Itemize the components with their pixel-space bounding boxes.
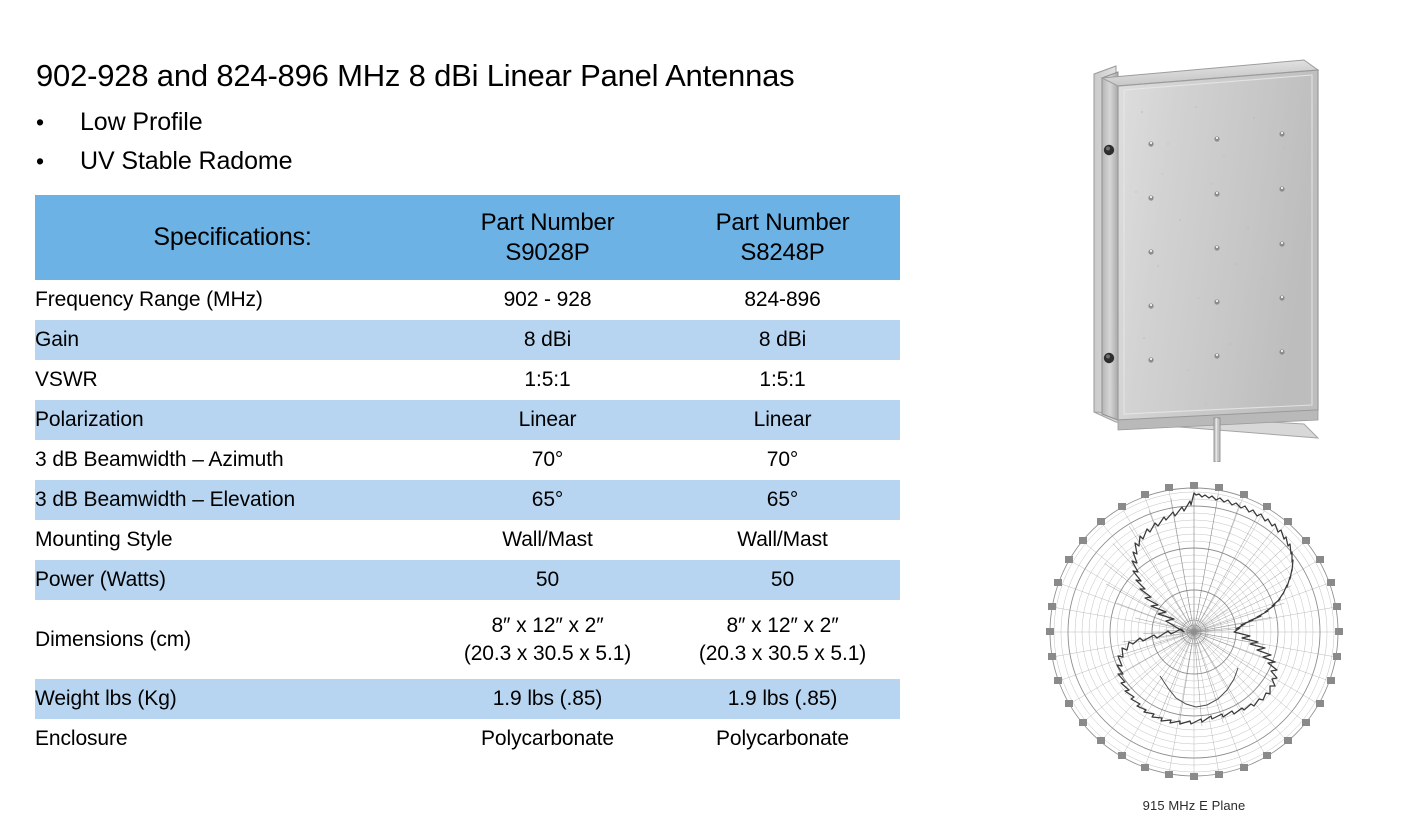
row-value-a: 902 - 928 — [430, 280, 665, 320]
column-header-specifications: Specifications: — [35, 195, 430, 280]
dimensions-centimeters: (20.3 x 30.5 x 5.1) — [665, 640, 900, 668]
row-value-a: Polycarbonate — [430, 719, 665, 759]
row-value-a: 65° — [430, 480, 665, 520]
dimensions-centimeters: (20.3 x 30.5 x 5.1) — [430, 640, 665, 668]
row-label: 3 dB Beamwidth – Elevation — [35, 480, 430, 520]
table-row: Weight lbs (Kg) 1.9 lbs (.85) 1.9 lbs (.… — [35, 679, 900, 719]
list-item: • UV Stable Radome — [36, 147, 736, 186]
row-value-b: 824-896 — [665, 280, 900, 320]
row-value-b: Linear — [665, 400, 900, 440]
row-label: Polarization — [35, 400, 430, 440]
bullet-icon: • — [36, 150, 80, 173]
row-label: Mounting Style — [35, 520, 430, 560]
row-value-b: 1.9 lbs (.85) — [665, 679, 900, 719]
column-header-part-number-a: Part Number S9028P — [430, 195, 665, 280]
row-value-a: 8″ x 12″ x 2″ (20.3 x 30.5 x 5.1) — [430, 600, 665, 679]
table-header-row: Specifications: Part Number S9028P Part … — [35, 195, 900, 280]
table-row: 3 dB Beamwidth – Elevation 65° 65° — [35, 480, 900, 520]
row-value-a: 8 dBi — [430, 320, 665, 360]
row-label: 3 dB Beamwidth – Azimuth — [35, 440, 430, 480]
polar-chart-caption: 915 MHz E Plane — [1044, 798, 1344, 813]
polar-radiation-pattern-chart — [1044, 482, 1344, 782]
mounting-bolt — [1104, 145, 1114, 155]
table-row: Frequency Range (MHz) 902 - 928 824-896 — [35, 280, 900, 320]
specifications-table: Specifications: Part Number S9028P Part … — [35, 195, 900, 759]
row-value-b: 8 dBi — [665, 320, 900, 360]
table-row: Polarization Linear Linear — [35, 400, 900, 440]
row-value-b: 65° — [665, 480, 900, 520]
row-label: Dimensions (cm) — [35, 600, 430, 679]
part-number-value: S8248P — [665, 238, 900, 268]
dimensions-inches: 8″ x 12″ x 2″ — [726, 614, 838, 637]
row-value-b: 8″ x 12″ x 2″ (20.3 x 30.5 x 5.1) — [665, 600, 900, 679]
row-label: Frequency Range (MHz) — [35, 280, 430, 320]
row-label: Enclosure — [35, 719, 430, 759]
row-value-a: 1.9 lbs (.85) — [430, 679, 665, 719]
row-value-b: 1:5:1 — [665, 360, 900, 400]
list-item-label: Low Profile — [80, 108, 203, 137]
dimensions-inches: 8″ x 12″ x 2″ — [491, 614, 603, 637]
row-label: Power (Watts) — [35, 560, 430, 600]
row-value-b: 50 — [665, 560, 900, 600]
coax-cable — [1214, 418, 1220, 462]
panel-antenna-photo — [1072, 52, 1392, 462]
row-value-a: 1:5:1 — [430, 360, 665, 400]
feature-list: • Low Profile • UV Stable Radome — [36, 108, 736, 186]
page-title: 902-928 and 824-896 MHz 8 dBi Linear Pan… — [36, 58, 794, 94]
row-value-a: 50 — [430, 560, 665, 600]
row-value-b: 70° — [665, 440, 900, 480]
row-label: Weight lbs (Kg) — [35, 679, 430, 719]
table-row: Power (Watts) 50 50 — [35, 560, 900, 600]
column-header-part-number-b: Part Number S8248P — [665, 195, 900, 280]
part-number-title: Part Number — [716, 209, 850, 236]
row-label: VSWR — [35, 360, 430, 400]
table-row: Mounting Style Wall/Mast Wall/Mast — [35, 520, 900, 560]
table-row: Dimensions (cm) 8″ x 12″ x 2″ (20.3 x 30… — [35, 600, 900, 679]
row-value-b: Polycarbonate — [665, 719, 900, 759]
list-item-label: UV Stable Radome — [80, 147, 292, 176]
row-value-b: Wall/Mast — [665, 520, 900, 560]
row-value-a: 70° — [430, 440, 665, 480]
part-number-title: Part Number — [481, 209, 615, 236]
row-value-a: Linear — [430, 400, 665, 440]
table-row: Enclosure Polycarbonate Polycarbonate — [35, 719, 900, 759]
bullet-icon: • — [36, 111, 80, 134]
part-number-value: S9028P — [430, 238, 665, 268]
row-label: Gain — [35, 320, 430, 360]
mounting-bolt — [1104, 353, 1114, 363]
table-row: VSWR 1:5:1 1:5:1 — [35, 360, 900, 400]
list-item: • Low Profile — [36, 108, 736, 147]
table-row: Gain 8 dBi 8 dBi — [35, 320, 900, 360]
row-value-a: Wall/Mast — [430, 520, 665, 560]
table-row: 3 dB Beamwidth – Azimuth 70° 70° — [35, 440, 900, 480]
